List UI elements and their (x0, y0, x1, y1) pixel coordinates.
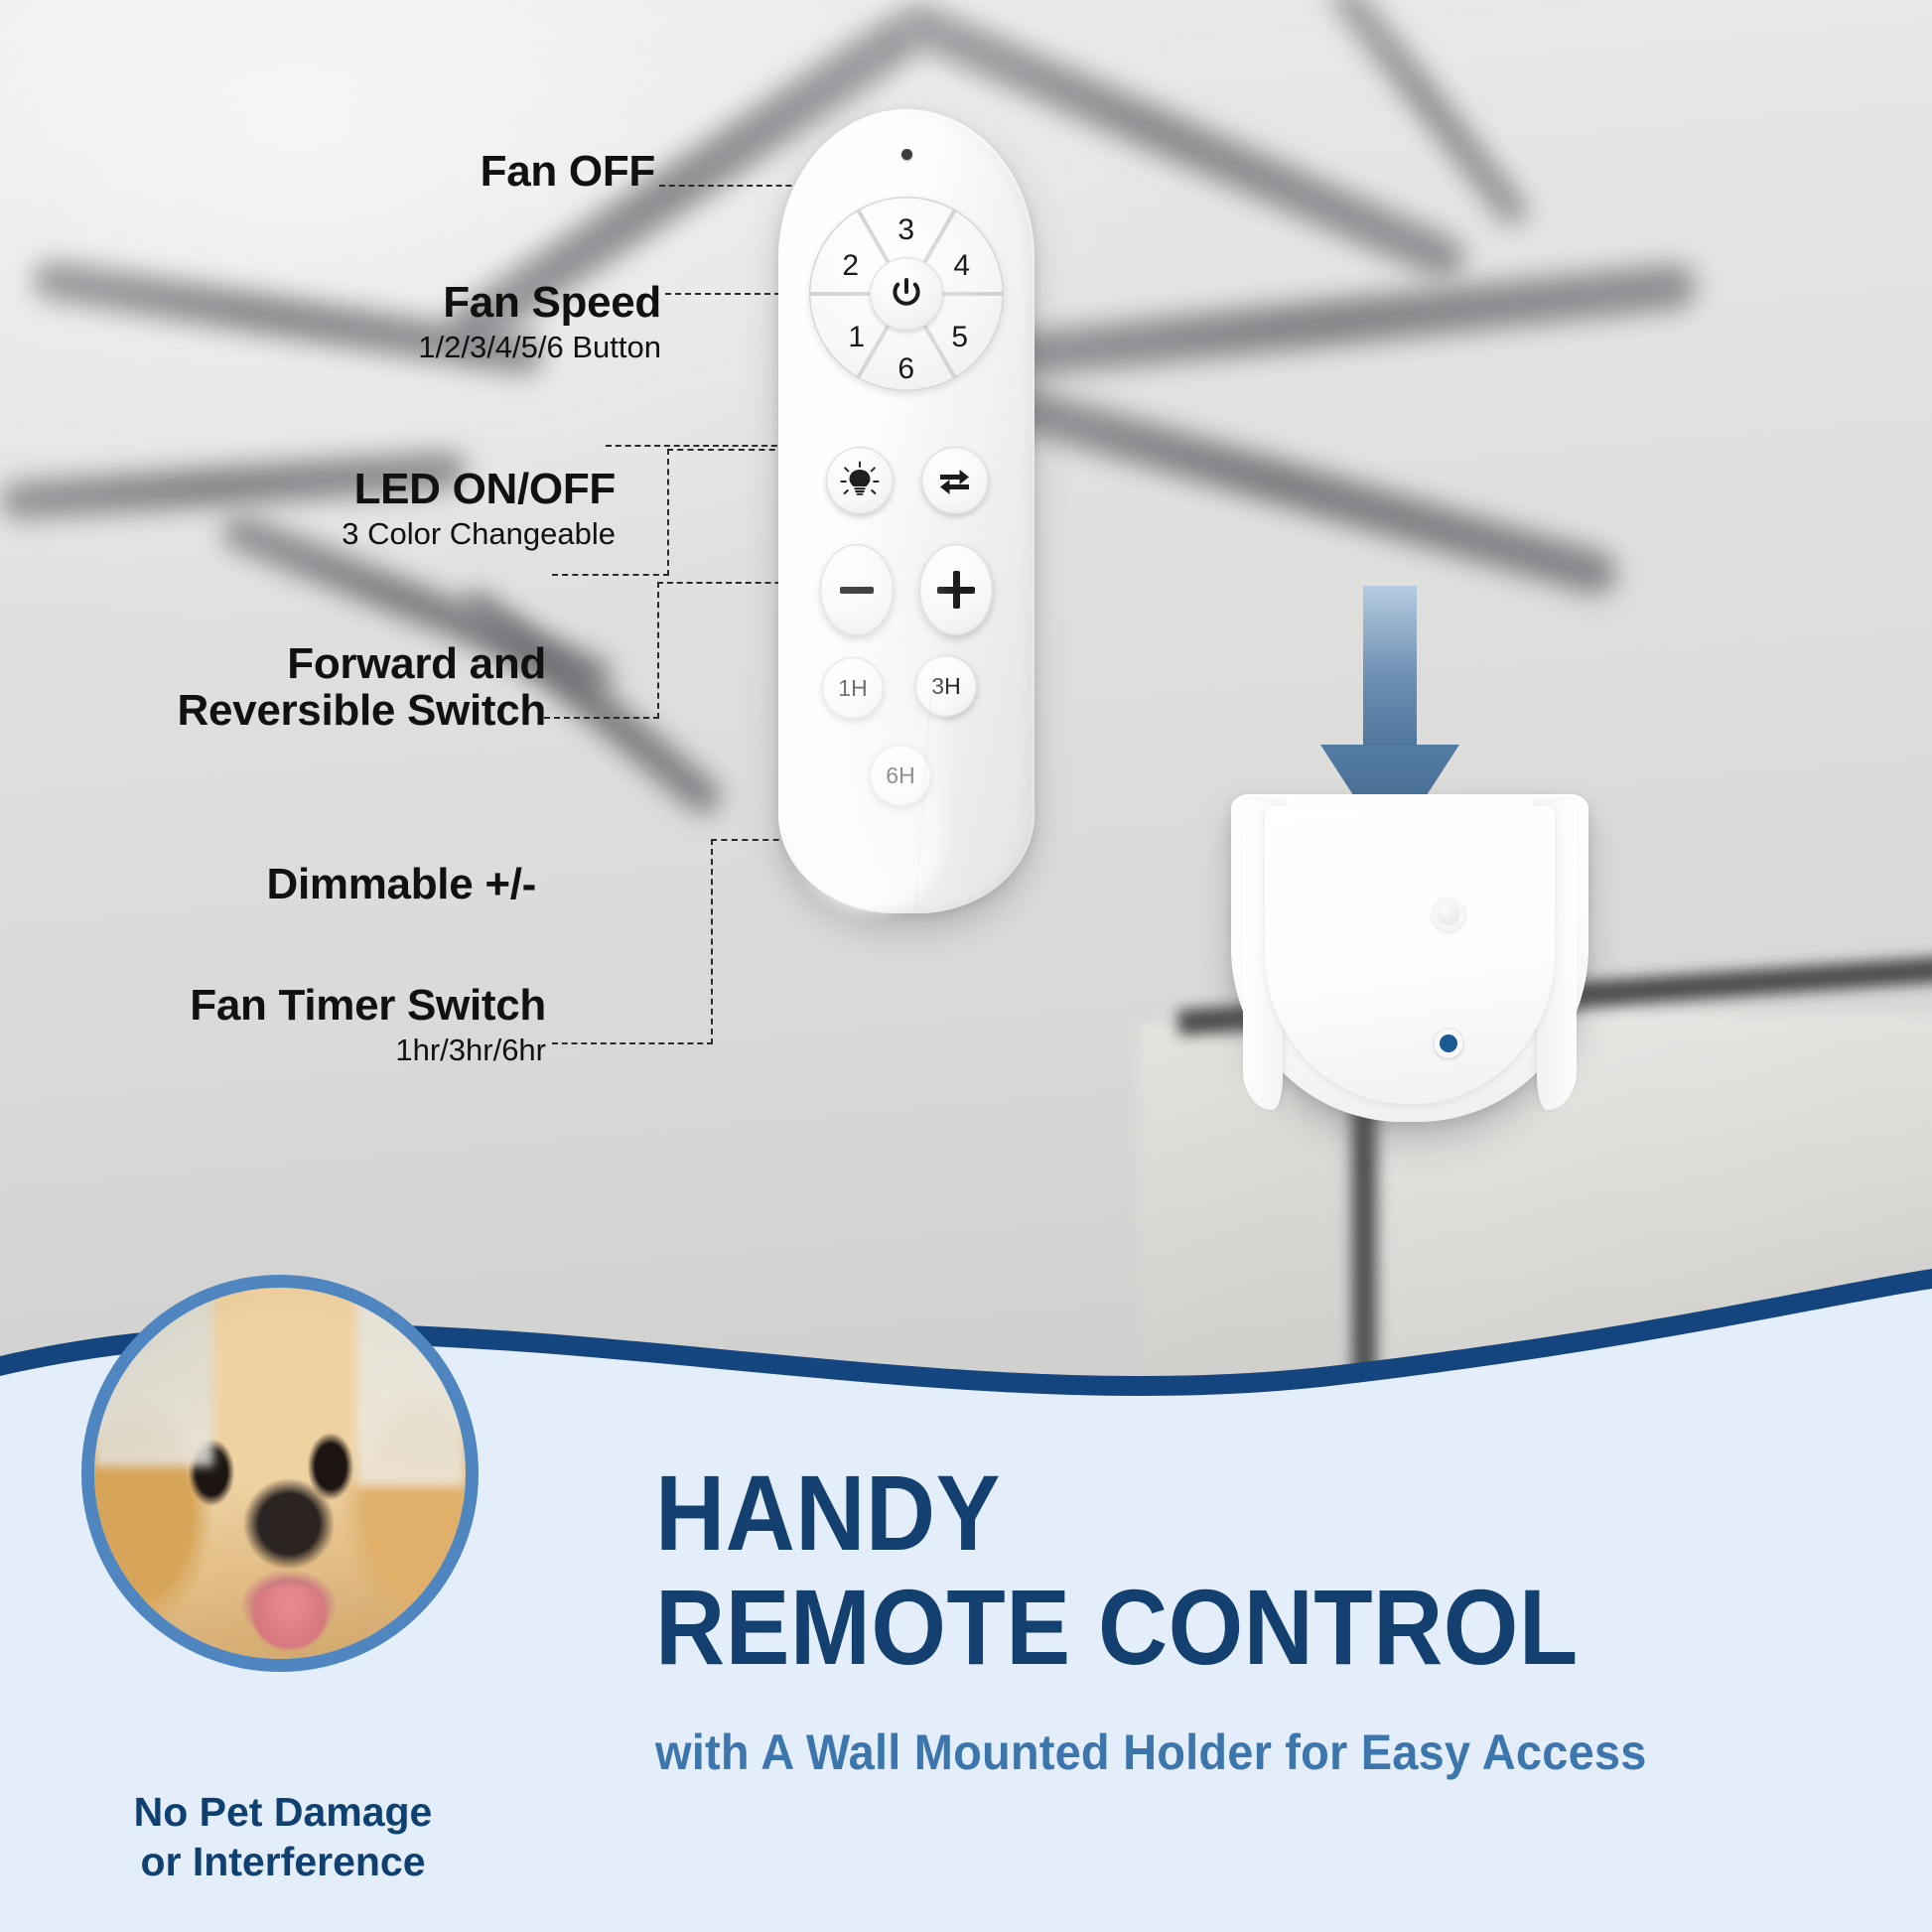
leader-line-reverse (667, 449, 669, 576)
label-title: Forward and (79, 641, 546, 688)
leader-line-dimmable (657, 582, 659, 719)
wall-mounted-holder (1231, 794, 1588, 1122)
headline-line-2: REMOTE CONTROL (655, 1571, 1754, 1684)
fan-speed-button-2[interactable]: 2 (842, 249, 859, 283)
label-fan-timer: Fan Timer Switch 1hr/3hr/6hr (79, 983, 546, 1067)
remote-control-body: 1 2 3 4 5 6 (778, 109, 1035, 913)
label-fan-off: Fan OFF (149, 149, 655, 196)
power-button[interactable] (870, 257, 943, 331)
label-subtitle: 3 Color Changeable (119, 516, 616, 552)
dim-plus-button[interactable] (919, 544, 993, 635)
label-subtitle: 1/2/3/4/5/6 Button (149, 330, 661, 365)
leader-line-timer (711, 839, 713, 1044)
led-on-off-button[interactable] (826, 447, 894, 514)
label-led-on-off: LED ON/OFF 3 Color Changeable (119, 467, 616, 551)
fan-speed-button-6[interactable]: 6 (897, 352, 914, 386)
lightbulb-icon (840, 461, 880, 500)
dimmer-button-group (810, 536, 1003, 643)
minus-icon (840, 587, 874, 594)
holder-face (1265, 806, 1555, 1104)
screw-hole-bottom (1434, 1029, 1463, 1058)
label-subtitle: 1hr/3hr/6hr (79, 1033, 546, 1068)
label-title: Fan Speed (149, 280, 661, 327)
bottom-banner: No Pet Damage or Interference HANDY REMO… (0, 1237, 1932, 1932)
plus-icon (937, 571, 975, 609)
label-title: Fan OFF (149, 149, 655, 196)
pet-caption-line-2: or Interference (40, 1837, 526, 1886)
fan-speed-button-3[interactable]: 3 (897, 213, 914, 247)
label-forward-reversible: Forward and Reversible Switch (79, 641, 546, 734)
screw-hole-top (1432, 897, 1465, 931)
fan-blade (1326, 0, 1533, 230)
arrow-shaft (1363, 586, 1417, 753)
dim-minus-button[interactable] (820, 544, 894, 635)
fan-speed-button-5[interactable]: 5 (951, 321, 968, 354)
pet-photo-badge (81, 1275, 479, 1672)
headline: HANDY REMOTE CONTROL (655, 1456, 1754, 1684)
label-title: Dimmable +/- (99, 862, 536, 908)
pet-caption: No Pet Damage or Interference (40, 1787, 526, 1886)
leader-line-timer (552, 1042, 713, 1044)
headline-line-1: HANDY (655, 1456, 1754, 1570)
ir-emitter-dot (901, 149, 912, 160)
forward-reverse-button[interactable] (921, 447, 989, 514)
fan-speed-button-1[interactable]: 1 (848, 321, 865, 354)
reverse-arrows-icon (935, 461, 975, 500)
timer-button-1h[interactable]: 1H (822, 657, 884, 719)
subtitle: with A Wall Mounted Holder for Easy Acce… (655, 1724, 1850, 1781)
fan-speed-dial[interactable]: 1 2 3 4 5 6 (809, 197, 1004, 391)
leader-line-reverse (552, 574, 669, 576)
fan-speed-button-4[interactable]: 4 (953, 249, 970, 283)
leader-line-dimmable (544, 717, 659, 719)
fan-blade (1003, 262, 1699, 380)
label-title: LED ON/OFF (119, 467, 616, 513)
pet-caption-line-1: No Pet Damage (40, 1787, 526, 1837)
label-dimmable: Dimmable +/- (99, 862, 536, 908)
infographic-canvas: Fan OFF Fan Speed 1/2/3/4/5/6 Button LED… (0, 0, 1932, 1932)
photo-ring-border (81, 1275, 479, 1672)
label-title-line2: Reversible Switch (79, 688, 546, 735)
power-icon (888, 275, 925, 313)
fan-blade (980, 377, 1622, 600)
label-title: Fan Timer Switch (79, 983, 546, 1030)
label-fan-speed: Fan Speed 1/2/3/4/5/6 Button (149, 280, 661, 364)
